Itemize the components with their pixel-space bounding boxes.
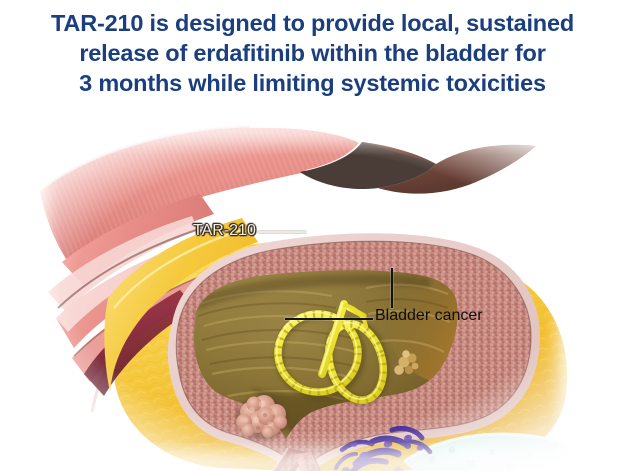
title-line-1: TAR-210 is designed to provide local, su…: [0, 8, 625, 38]
title-line-2: release of erdafitinib within the bladde…: [0, 38, 625, 68]
leader-line-bladder-cancer-vertical: [391, 268, 393, 308]
slide-root: TAR-210 is designed to provide local, su…: [0, 0, 625, 471]
callout-label-tar-210: TAR-210: [193, 222, 256, 240]
leader-line-tar-210: [258, 231, 306, 233]
leader-line-bladder-cancer-horizontal: [285, 318, 373, 320]
page-title: TAR-210 is designed to provide local, su…: [0, 8, 625, 98]
callout-label-bladder-cancer: Bladder cancer: [375, 307, 483, 325]
title-line-3: 3 months while limiting systemic toxicit…: [0, 68, 625, 98]
illustration-canvas: [0, 112, 625, 471]
bladder-anatomy-illustration: [0, 112, 625, 471]
